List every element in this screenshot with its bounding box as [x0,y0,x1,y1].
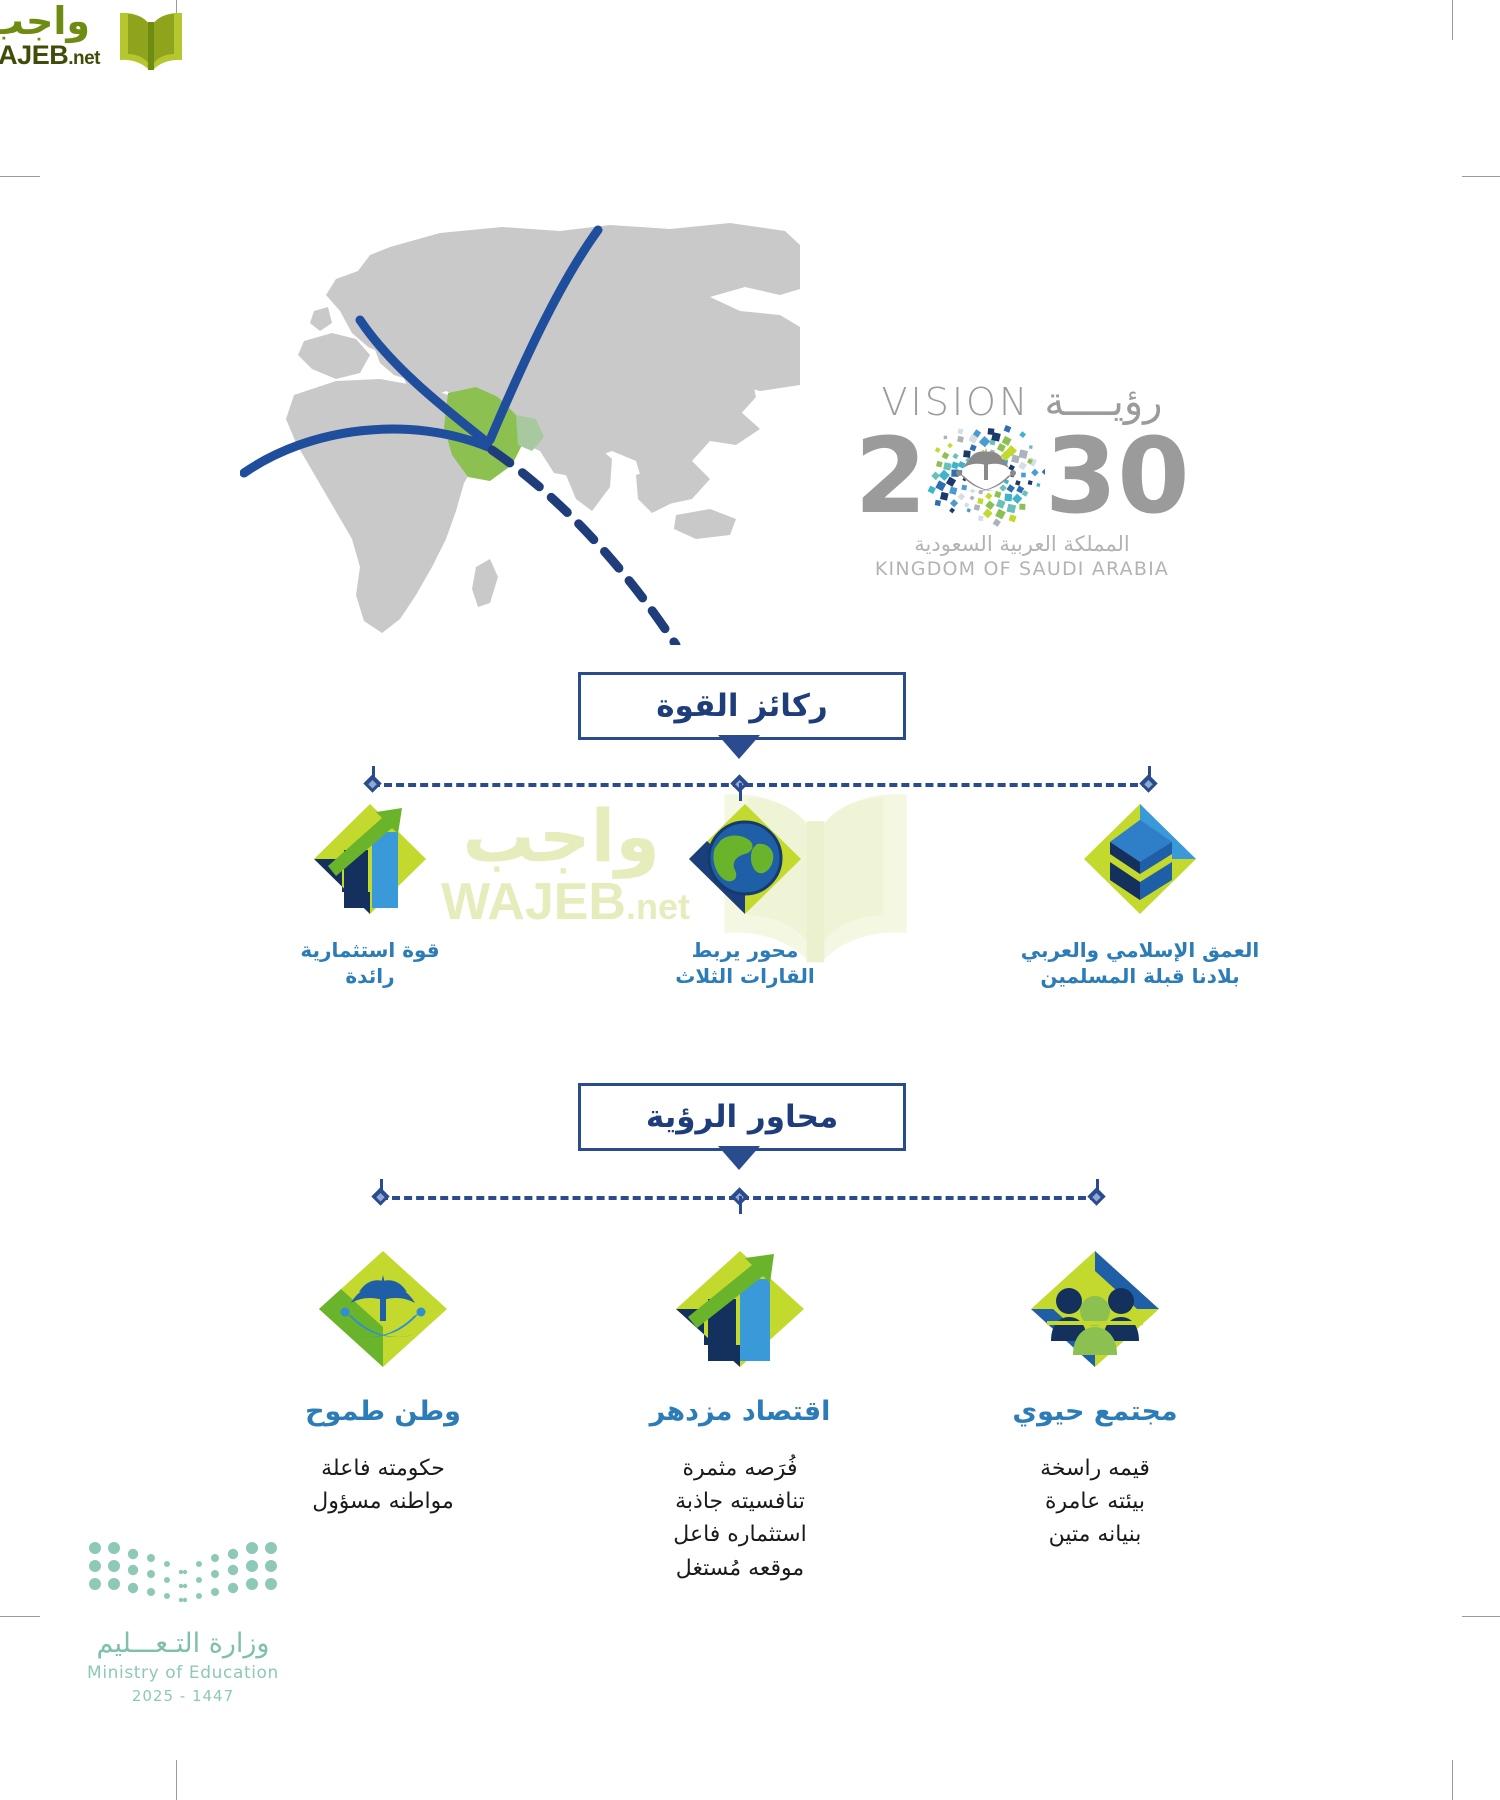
crop-mark [1452,1760,1453,1800]
pillar-title: قوة استثمارية رائدة [275,938,465,989]
saudi-emblem-icon [313,1245,453,1373]
ministry-of-education-logo: وزارة التـعـــليم Ministry of Education … [78,1540,288,1705]
crop-mark [176,1760,177,1800]
growth-chart-icon [310,800,430,918]
axis-sub-list: فُرَصه مثمرة تنافسيته جاذبة استثماره فاع… [640,1452,840,1586]
axis-sub-list: حكومته فاعلة مواطنه مسؤول [283,1452,483,1519]
axis-sub-item: حكومته فاعلة [283,1452,483,1485]
axis-sub-item: استثماره فاعل [640,1518,840,1551]
vision-digit-30: 30 [1045,424,1190,528]
section-heading-pillars: ركائز القوة [578,672,906,740]
axis-sub-item: موقعه مُستغل [640,1552,840,1585]
axis-sub-item: بيئته عامرة [995,1485,1195,1518]
pillar-item-leading-investment-power[interactable]: قوة استثمارية رائدة [275,800,465,989]
connector-node [363,774,381,792]
kaaba-icon [1080,800,1200,918]
axis-sub-item: قيمه راسخة [995,1452,1195,1485]
section-heading-axes-arrow [718,1146,760,1170]
moe-dots-icon [83,1540,283,1612]
axis-title: وطن طموح [283,1395,483,1430]
crop-mark [1462,176,1500,177]
axis-sub-item: تنافسيته جاذبة [640,1485,840,1518]
world-map [240,215,800,645]
infographic-page: واجب WAJEB.net [0,0,1500,1800]
saudi-emblem-palm-swords-icon [927,422,1045,530]
axis-sub-item: مواطنه مسؤول [283,1485,483,1518]
pillar-title: محور يربط القارات الثلاث [650,938,840,989]
globe-icon [685,800,805,918]
connector-node [1139,774,1157,792]
axis-item-ambitious-nation[interactable]: وطن طموح حكومته فاعلة مواطنه مسؤول [283,1245,483,1518]
crop-mark [0,176,40,177]
watermark-arabic-text: واجب [462,800,660,872]
axis-item-vibrant-society[interactable]: مجتمع حيوي قيمه راسخة بيئته عامرة بنيانه… [995,1245,1195,1552]
vision-digit-2: 2 [854,424,926,528]
crop-mark [1462,1616,1500,1617]
section-heading-axes: محاور الرؤية [578,1083,906,1151]
connector-line-pillars [372,783,1150,787]
wajeb-logo-arabic-text: واجب [0,2,90,40]
vision-kingdom-english: KINGDOM OF SAUDI ARABIA [862,558,1182,580]
section-heading-axes-label: محاور الرؤية [646,1099,838,1135]
section-heading-pillars-arrow [718,735,760,759]
growth-chart-icon [670,1245,810,1373]
connector-node [1087,1187,1105,1205]
wajeb-site-logo[interactable]: واجب WAJEB.net [8,4,208,82]
crop-mark [0,1616,40,1617]
moe-english-name: Ministry of Education [78,1663,288,1683]
moe-arabic-name: وزارة التـعـــليم [78,1628,288,1659]
section-heading-pillars-label: ركائز القوة [656,688,828,724]
axis-sub-list: قيمه راسخة بيئته عامرة بنيانه متين [995,1452,1195,1552]
axis-title: اقتصاد مزدهر [640,1395,840,1430]
pillar-item-three-continents-hub[interactable]: محور يربط القارات الثلاث [650,800,840,989]
pillar-item-islamic-arab-depth[interactable]: العمق الإسلامي والعربي بلادنا قبلة المسل… [1020,800,1260,989]
vision-2030-logo: VISION رؤيــــة 2 [862,380,1182,580]
wajeb-logo-english-text: WAJEB.net [0,42,100,69]
axis-sub-item: فُرَصه مثمرة [640,1452,840,1485]
pillar-title: العمق الإسلامي والعربي بلادنا قبلة المسل… [1020,938,1260,989]
crop-mark [1452,0,1453,40]
axis-sub-item: بنيانه متين [995,1518,1195,1551]
people-group-icon [1025,1245,1165,1373]
open-book-icon [116,8,186,76]
connector-stub-center [739,783,742,801]
vision-year-line: 2 [862,422,1182,530]
connector-stub-center [739,1196,742,1214]
axis-item-thriving-economy[interactable]: اقتصاد مزدهر فُرَصه مثمرة تنافسيته جاذبة… [640,1245,840,1585]
connector-node [371,1187,389,1205]
axis-title: مجتمع حيوي [995,1395,1195,1430]
moe-year: 2025 - 1447 [78,1687,288,1705]
